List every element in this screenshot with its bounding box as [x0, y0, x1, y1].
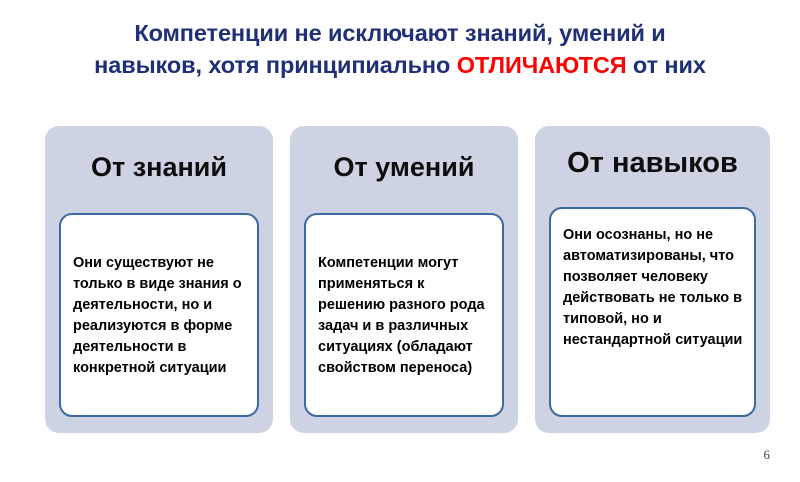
card-header-ot-znaniy: От знаний	[45, 152, 273, 183]
card-body-text-ot-navykov: Они осознаны, но не автоматизированы, чт…	[563, 225, 744, 351]
card-ot-umeniy: От умений Компетенции могут применяться …	[290, 126, 518, 433]
card-ot-znaniy: От знаний Они существуют не только в вид…	[45, 126, 273, 433]
card-body-box-ot-umeniy: Компетенции могут применяться к решению …	[304, 213, 504, 417]
card-body-box-ot-navykov: Они осознаны, но не автоматизированы, чт…	[549, 207, 756, 417]
card-group: От знаний Они существуют не только в вид…	[0, 0, 800, 482]
card-header-ot-navykov: От навыков	[535, 147, 770, 180]
page-number: 6	[764, 447, 771, 463]
card-header-ot-umeniy: От умений	[290, 152, 518, 183]
card-body-box-ot-znaniy: Они существуют не только в виде знания о…	[59, 213, 259, 417]
card-body-text-ot-umeniy: Компетенции могут применяться к решению …	[318, 253, 492, 379]
slide: Компетенции не исключают знаний, умений …	[0, 0, 800, 482]
card-body-text-ot-znaniy: Они существуют не только в виде знания о…	[73, 253, 247, 379]
card-ot-navykov: От навыков Они осознаны, но не автоматиз…	[535, 126, 770, 433]
